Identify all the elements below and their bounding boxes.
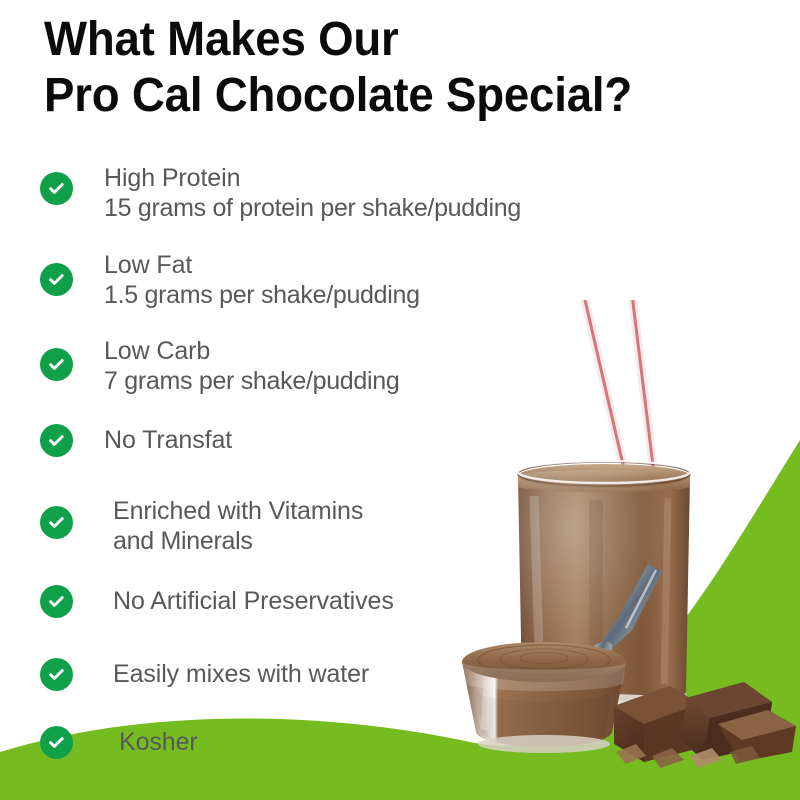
check-icon (40, 172, 73, 205)
benefit-text: No Artificial Preservatives (113, 586, 394, 616)
benefit-text: No Transfat (104, 425, 232, 455)
headline-line-2: Pro Cal Chocolate Special? (44, 68, 747, 124)
benefit-detail: 7 grams per shake/pudding (104, 366, 399, 397)
check-icon (40, 348, 73, 381)
benefit-text: Easily mixes with water (113, 659, 369, 689)
benefit-text: Enriched with Vitamins and Minerals (113, 496, 363, 557)
benefit-title: Kosher (119, 727, 198, 757)
benefit-title: Low Fat (104, 250, 420, 280)
check-icon (40, 585, 73, 618)
benefit-detail: and Minerals (113, 526, 363, 557)
benefit-title: No Transfat (104, 425, 232, 455)
check-icon (40, 263, 73, 296)
check-icon (40, 726, 73, 759)
benefit-title: Low Carb (104, 336, 399, 366)
benefit-title: High Protein (104, 163, 521, 193)
headline-line-1: What Makes Our (44, 12, 747, 68)
benefit-title: Easily mixes with water (113, 659, 369, 689)
check-icon (40, 424, 73, 457)
check-icon (40, 658, 73, 691)
benefit-title: Enriched with Vitamins (113, 496, 363, 526)
benefit-title: No Artificial Preservatives (113, 586, 394, 616)
headline: What Makes Our Pro Cal Chocolate Special… (44, 12, 784, 124)
benefit-text: Kosher (119, 727, 198, 757)
benefit-text: High Protein 15 grams of protein per sha… (104, 163, 521, 224)
benefit-detail: 1.5 grams per shake/pudding (104, 280, 420, 311)
benefit-detail: 15 grams of protein per shake/pudding (104, 193, 521, 224)
check-icon (40, 506, 73, 539)
promo-poster: What Makes Our Pro Cal Chocolate Special… (0, 0, 800, 800)
benefit-text: Low Fat 1.5 grams per shake/pudding (104, 250, 420, 311)
benefit-text: Low Carb 7 grams per shake/pudding (104, 336, 399, 397)
